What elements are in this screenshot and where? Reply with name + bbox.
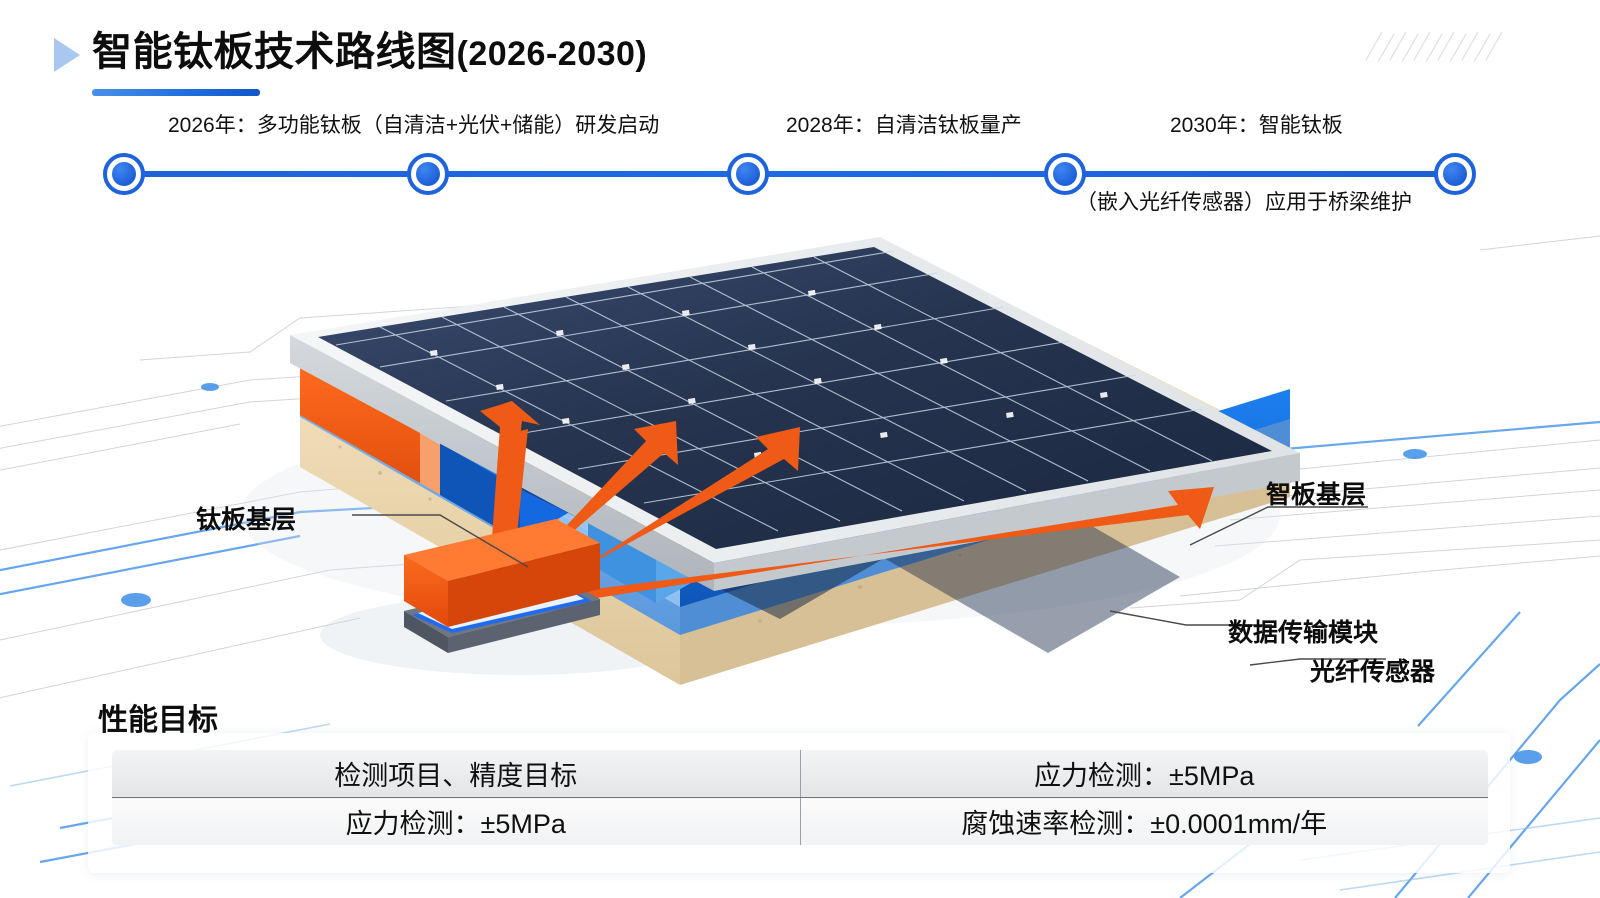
timeline-node-3[interactable]: [727, 153, 769, 195]
timeline-label-2026: 2026年：多功能钛板（自清洁+光伏+储能）研发启动: [168, 113, 659, 139]
timeline-label-2030-detail: （嵌入光纤传感器）应用于桥梁维护: [1076, 190, 1412, 216]
slide-canvas: 智能钛板技术路线图(2026-2030): [0, 0, 1600, 898]
timeline-axis: [124, 171, 1456, 177]
timeline-node-5[interactable]: [1434, 153, 1476, 195]
table-cell-header-1: 应力检测：±5MPa: [800, 749, 1489, 798]
header: 智能钛板技术路线图(2026-2030): [0, 0, 1600, 105]
timeline-node-2[interactable]: [407, 153, 449, 195]
table-row-header: 检测项目、精度目标 应力检测：±5MPa: [111, 749, 1489, 798]
timeline-node-4[interactable]: [1044, 153, 1086, 195]
table-row-body: 应力检测：±5MPa 腐蚀速率检测：±0.0001mm/年: [111, 798, 1489, 847]
performance-table: 检测项目、精度目标 应力检测：±5MPa 应力检测：±5MPa 腐蚀速率检测：±…: [110, 748, 1490, 847]
roadmap-timeline: 2026年：多功能钛板（自清洁+光伏+储能）研发启动 2028年：自清洁钛板量产…: [0, 105, 1600, 225]
title-underline: [92, 89, 260, 96]
callout-tiban-jiceng: 钛板基层: [196, 500, 296, 536]
table-cell-body-1: 腐蚀速率检测：±0.0001mm/年: [800, 798, 1489, 847]
table-cell-header-0: 检测项目、精度目标: [111, 749, 800, 798]
page-title: 智能钛板技术路线图(2026-2030): [92, 19, 647, 77]
timeline-node-1[interactable]: [103, 153, 145, 195]
page-title-main: 智能钛板技术路线图: [92, 30, 457, 74]
play-triangle-icon: [54, 38, 80, 72]
table-cell-body-0: 应力检测：±5MPa: [111, 798, 800, 847]
callout-zhiban-jiceng: 智板基层: [1266, 475, 1366, 511]
timeline-label-2030: 2030年：智能钛板: [1170, 113, 1343, 139]
titanium-plate-illustration: 光纤传器 智板基层 光纤传感器 数据传输模块 钛板基层: [0, 215, 1600, 715]
timeline-label-2028: 2028年：自清洁钛板量产: [786, 113, 1022, 139]
callout-shuju-chuanshu-mokuai: 数据传输模块: [1228, 613, 1378, 649]
diagonal-hatch-decoration: [1362, 26, 1512, 72]
callout-guangxian-chuanganqi: 光纤传感器: [1310, 652, 1435, 688]
page-title-years: (2026-2030): [457, 35, 648, 73]
